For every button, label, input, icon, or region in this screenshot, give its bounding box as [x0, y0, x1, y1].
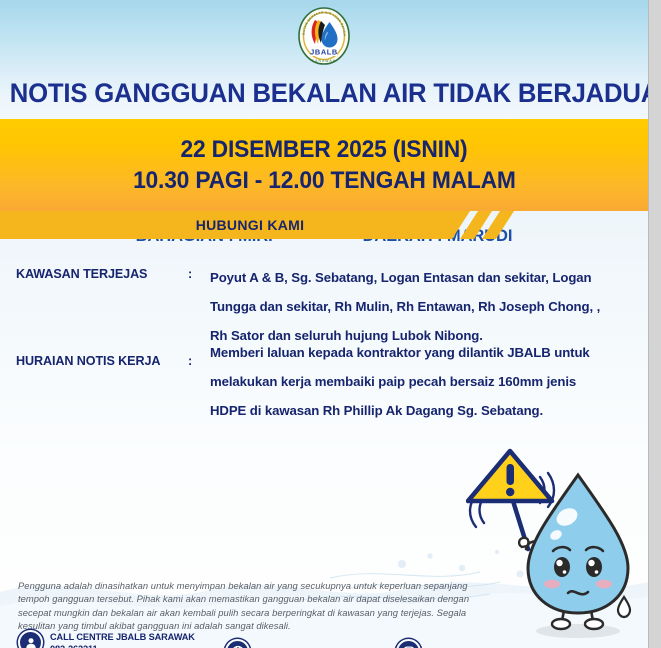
hubungi-kami-title: HUBUNGI KAMI — [0, 211, 500, 239]
person-icon — [18, 630, 43, 648]
huraian-notis-kerja-value: Memberi laluan kepada kontraktor yang di… — [210, 321, 634, 425]
notice-time: 10.30 PAGI - 12.00 TENGAH MALAM — [133, 167, 516, 195]
notice-date: 22 DISEMBER 2025 (ISNIN) — [181, 136, 468, 164]
contact-call-centre: CALL CENTRE JBALB SARAWAK 082-262211 — [18, 630, 195, 648]
globe-icon[interactable] — [225, 639, 250, 648]
kawasan-line-2: Tungga dan sekitar, Rh Mulin, Rh Entawan… — [210, 292, 634, 321]
svg-text:JBALB: JBALB — [310, 48, 338, 57]
water-droplet-mascot-icon — [466, 445, 646, 648]
call-centre-number: 082-262211 — [50, 643, 195, 648]
huraian-line-2: melakukan kerja membaiki paip pecah bers… — [210, 367, 634, 396]
instagram-icon[interactable] — [396, 639, 421, 648]
contact-website[interactable]: https://jbalb.sarawak.gov.my/ — [225, 639, 382, 648]
call-centre-text: CALL CENTRE JBALB SARAWAK 082-262211 — [50, 631, 195, 648]
call-centre-label: CALL CENTRE JBALB SARAWAK — [50, 631, 195, 643]
huraian-notis-kerja-label: HURAIAN NOTIS KERJA — [16, 321, 188, 368]
scrollbar-gutter[interactable] — [648, 0, 661, 648]
disclaimer-text: Pengguna adalah dinasihatkan untuk menyi… — [18, 579, 470, 632]
page-title: NOTIS GANGGUAN BEKALAN AIR TIDAK BERJADU… — [10, 78, 639, 109]
kawasan-line-1: Poyut A & B, Sg. Sebatang, Logan Entasan… — [210, 263, 634, 292]
jbalb-logo-icon: JBALB SARAWAK JABATAN BEKALAN AIR LUAR B… — [296, 6, 352, 66]
date-time-band: 22 DISEMBER 2025 (ISNIN) 10.30 PAGI - 12… — [0, 119, 648, 211]
detail-grid: KAWASAN TERJEJAS : Poyut A & B, Sg. Seba… — [16, 263, 634, 425]
huraian-notis-kerja-row: HURAIAN NOTIS KERJA : Memberi laluan kep… — [16, 321, 634, 425]
huraian-line-3: HDPE di kawasan Rh Phillip Ak Dagang Sg.… — [210, 396, 634, 425]
notice-body: BAHAGIAN : MIRI DAERAH : MARUDI KAWASAN … — [0, 211, 648, 648]
kawasan-colon: : — [188, 263, 210, 281]
svg-text:SARAWAK: SARAWAK — [312, 59, 336, 63]
poster-header: JBALB SARAWAK JABATAN BEKALAN AIR LUAR B… — [0, 0, 648, 119]
huraian-line-1: Memberi laluan kepada kontraktor yang di… — [210, 338, 634, 367]
huraian-colon: : — [188, 321, 210, 368]
value-spacer — [210, 321, 634, 338]
kawasan-terjejas-label: KAWASAN TERJEJAS — [16, 263, 188, 281]
contact-instagram[interactable]: jbalbsarawak — [396, 639, 485, 648]
notice-poster: JBALB SARAWAK JABATAN BEKALAN AIR LUAR B… — [0, 0, 648, 648]
